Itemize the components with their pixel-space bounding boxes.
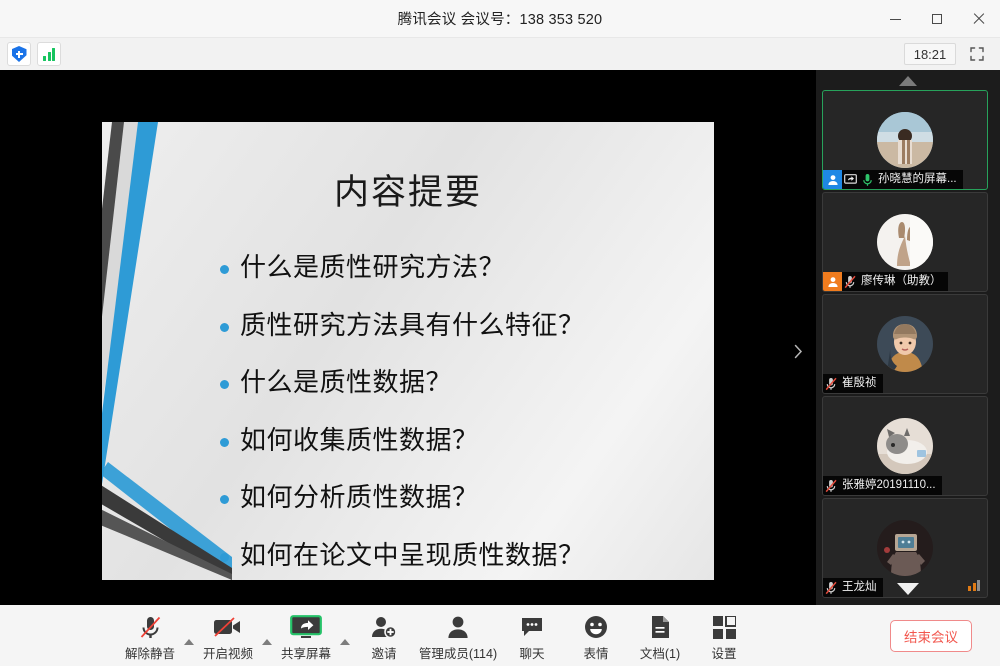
document-icon	[650, 613, 670, 641]
chat-bubble-icon	[520, 613, 544, 641]
bullet-dot-icon	[220, 323, 229, 332]
secondary-toolbar: 18:21	[0, 38, 1000, 70]
signal-bars-icon	[43, 48, 55, 61]
toolbar-label: 聊天	[519, 643, 544, 662]
microphone-muted-icon	[138, 613, 163, 641]
microphone-muted-icon	[823, 377, 840, 391]
screen-share-icon	[842, 174, 859, 185]
participant-tiles: 孙晓慧的屏幕...	[822, 90, 994, 600]
secondary-toolbar-right: 18:21	[904, 43, 1000, 65]
avatar	[877, 112, 933, 168]
minimize-icon	[890, 19, 901, 20]
mute-toggle-button[interactable]: 解除静音	[118, 609, 182, 662]
bullet-text: 如何在论文中呈现质性数据？	[240, 540, 585, 573]
toolbar-label: 文档(1)	[640, 643, 680, 662]
host-badge	[823, 170, 842, 189]
bullet-text: 如何分析质性数据？	[240, 482, 479, 515]
participant-tile[interactable]: 廖传琳（助教）	[822, 192, 988, 292]
chevron-right-icon	[794, 344, 803, 359]
microphone-icon	[859, 173, 876, 187]
minimize-button[interactable]	[874, 0, 916, 38]
toolbar-label: 表情	[583, 643, 608, 662]
maximize-button[interactable]	[916, 0, 958, 38]
triangle-up-icon	[899, 76, 917, 86]
toolbar-label: 开启视频	[203, 643, 253, 662]
slide-title: 内容提要	[102, 164, 714, 215]
bottom-toolbar: 解除静音 开启视频	[0, 605, 1000, 666]
toolbar-items: 解除静音 开启视频	[0, 609, 756, 662]
person-icon	[827, 174, 839, 186]
slide-bullet-item: 如何收集质性数据？	[220, 425, 700, 458]
fullscreen-icon	[970, 47, 984, 61]
bullet-text: 质性研究方法具有什么特征？	[240, 310, 585, 343]
tile-info-bar: 廖传琳（助教）	[823, 272, 948, 291]
caret-up-icon	[340, 639, 350, 645]
camera-off-icon	[213, 613, 243, 641]
participant-tile[interactable]: 崔殷祯	[822, 294, 988, 394]
participant-rail: 孙晓慧的屏幕...	[816, 70, 1000, 605]
triangle-down-icon	[897, 583, 919, 595]
caret-up-icon	[184, 639, 194, 645]
documents-button[interactable]: 文档(1)	[628, 609, 692, 662]
close-icon	[973, 13, 985, 25]
slide-bullet-item: 什么是质性研究方法？	[220, 252, 700, 285]
rail-scroll-up-button[interactable]	[816, 72, 1000, 90]
emoji-smile-icon	[584, 613, 608, 641]
network-status-button[interactable]	[37, 42, 61, 66]
toolbar-label: 邀请	[371, 643, 396, 662]
invite-button[interactable]: 邀请	[352, 609, 416, 662]
tile-info-bar: 张雅婷20191110...	[823, 476, 942, 495]
caret-up-icon	[262, 639, 272, 645]
clock-display: 18:21	[904, 43, 956, 65]
mute-options-caret[interactable]	[182, 639, 196, 645]
chat-button[interactable]: 聊天	[500, 609, 564, 662]
slide-bullet-item: 质性研究方法具有什么特征？	[220, 310, 700, 343]
slide-bullet-list: 什么是质性研究方法？ 质性研究方法具有什么特征？ 什么是质性数据？ 如何收集质性…	[220, 252, 700, 572]
toolbar-label: 管理成员(114)	[419, 643, 497, 662]
share-screen-button[interactable]: 共享屏幕	[274, 609, 338, 662]
bullet-text: 如何收集质性数据？	[240, 425, 479, 458]
participant-name: 廖传琳（助教）	[859, 272, 948, 291]
settings-button[interactable]: 设置	[692, 609, 756, 662]
bullet-dot-icon	[220, 438, 229, 447]
secondary-toolbar-left	[0, 42, 61, 66]
collapse-panel-button[interactable]	[790, 338, 806, 364]
bullet-dot-icon	[220, 265, 229, 274]
tile-info-bar: 孙晓慧的屏幕...	[823, 170, 963, 189]
toolbar-label: 设置	[711, 643, 736, 662]
slide-bullet-item: 如何分析质性数据？	[220, 482, 700, 515]
end-meeting-button[interactable]: 结束会议	[890, 620, 972, 652]
participant-tile[interactable]: 孙晓慧的屏幕...	[822, 90, 988, 190]
toolbar-label: 解除静音	[125, 643, 175, 662]
invite-person-icon	[371, 613, 397, 641]
bullet-dot-icon	[220, 380, 229, 389]
presentation-slide: 内容提要 什么是质性研究方法？ 质性研究方法具有什么特征？ 什么是质性数据？	[102, 122, 714, 580]
microphone-muted-icon	[823, 479, 840, 493]
rail-scroll-down-button[interactable]	[816, 579, 1000, 599]
slide-bullet-item: 如何在论文中呈现质性数据？	[220, 540, 700, 573]
participant-tile[interactable]: 张雅婷20191110...	[822, 396, 988, 496]
participant-name: 崔殷祯	[840, 374, 883, 393]
shield-plus-icon	[12, 46, 27, 62]
settings-grid-icon	[713, 613, 736, 641]
avatar	[877, 214, 933, 270]
avatar	[877, 316, 933, 372]
bullet-text: 什么是质性数据？	[240, 367, 452, 400]
manage-members-button[interactable]: 管理成员(114)	[416, 609, 500, 662]
security-button[interactable]	[7, 42, 31, 66]
fullscreen-button[interactable]	[964, 43, 990, 65]
shared-screen-area[interactable]: 内容提要 什么是质性研究方法？ 质性研究方法具有什么特征？ 什么是质性数据？	[0, 70, 816, 605]
avatar	[877, 418, 933, 474]
bullet-dot-icon	[220, 553, 229, 562]
meeting-stage: 内容提要 什么是质性研究方法？ 质性研究方法具有什么特征？ 什么是质性数据？	[0, 70, 1000, 605]
tile-info-bar: 崔殷祯	[823, 374, 883, 393]
maximize-icon	[932, 14, 942, 24]
assistant-badge	[823, 272, 842, 291]
slide-bullet-item: 什么是质性数据？	[220, 367, 700, 400]
bullet-text: 什么是质性研究方法？	[240, 252, 505, 285]
window-title: 腾讯会议 会议号：138 353 520	[398, 8, 603, 29]
participant-name: 孙晓慧的屏幕...	[876, 170, 963, 189]
emoji-button[interactable]: 表情	[564, 609, 628, 662]
share-options-caret[interactable]	[338, 639, 352, 645]
video-options-caret[interactable]	[260, 639, 274, 645]
bullet-dot-icon	[220, 495, 229, 504]
title-bar: 腾讯会议 会议号：138 353 520	[0, 0, 1000, 38]
window-controls	[874, 0, 1000, 38]
share-screen-icon	[290, 613, 322, 641]
manage-members-icon	[446, 613, 470, 641]
toolbar-label: 共享屏幕	[281, 643, 331, 662]
participant-name: 张雅婷20191110...	[840, 476, 942, 495]
avatar	[877, 520, 933, 576]
microphone-muted-icon	[842, 275, 859, 289]
video-toggle-button[interactable]: 开启视频	[196, 609, 260, 662]
close-button[interactable]	[958, 0, 1000, 38]
tencent-meeting-window: 腾讯会议 会议号：138 353 520 18:21	[0, 0, 1000, 666]
person-icon	[827, 276, 839, 288]
